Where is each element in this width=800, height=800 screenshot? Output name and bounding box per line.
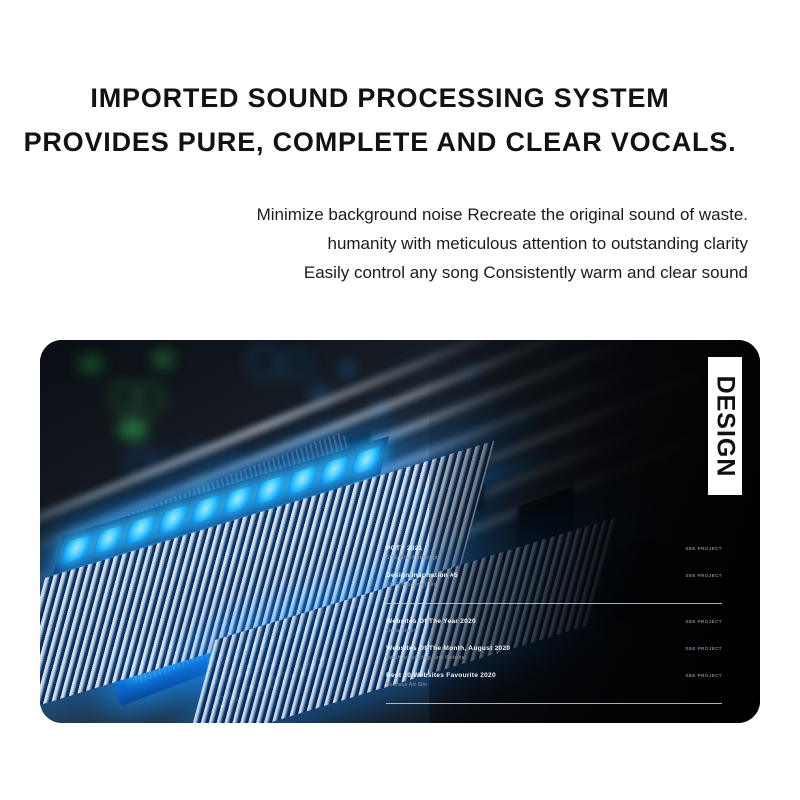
led xyxy=(190,495,221,525)
led xyxy=(93,524,124,554)
list-item[interactable]: Websites Of The Year 2020 Linea Studio S… xyxy=(386,613,746,640)
project-subtitle: VISIT Business Card xyxy=(386,581,746,589)
list-item[interactable]: Websites Of The Month, August 2020 Uarch… xyxy=(386,640,746,667)
led xyxy=(351,446,382,476)
project-subtitle: Bauhaus Art Site xyxy=(386,681,746,689)
project-award-list: POTY 2021 SITE Brand Redesign SEE PROJEC… xyxy=(386,540,746,723)
list-divider xyxy=(386,603,722,604)
led xyxy=(125,515,156,545)
project-subtitle: SITE Brand Redesign xyxy=(386,554,746,562)
led xyxy=(286,465,317,495)
led xyxy=(254,475,285,505)
subcopy-block: Minimize background noise Recreate the o… xyxy=(0,200,748,287)
page-headline: IMPORTED SOUND PROCESSING SYSTEM PROVIDE… xyxy=(0,76,760,164)
circuit-board-photo: WQ7024A ANONE-134 C 994031 CN 2107-197 D… xyxy=(40,340,760,723)
led xyxy=(157,505,188,535)
project-cta[interactable]: SEE PROJECT xyxy=(685,619,722,624)
project-cta[interactable]: SEE PROJECT xyxy=(685,646,722,651)
headline-line-2: PROVIDES PURE, COMPLETE AND CLEAR VOCALS… xyxy=(0,120,760,164)
list-divider xyxy=(386,703,722,704)
list-item[interactable]: Design Inspiration #5 VISIT Business Car… xyxy=(386,567,746,594)
list-item[interactable]: 1st Winner Portfolio Review US 2019 Desi… xyxy=(386,718,746,723)
led xyxy=(61,534,92,564)
project-cta[interactable]: SEE PROJECT xyxy=(685,546,722,551)
project-subtitle: Linea Studio xyxy=(386,627,746,635)
led xyxy=(319,455,350,485)
project-title: 1st Winner Portfolio Review US 2019 xyxy=(386,722,746,723)
list-item[interactable]: Best 20 Websites Favourite 2020 Bauhaus … xyxy=(386,667,746,694)
design-vertical-tag: DESIGN xyxy=(708,357,742,495)
design-tag-label: DESIGN xyxy=(711,375,740,477)
project-cta[interactable]: SEE PROJECT xyxy=(685,673,722,678)
subcopy-line-1: Minimize background noise Recreate the o… xyxy=(0,200,748,229)
list-item[interactable]: POTY 2021 SITE Brand Redesign SEE PROJEC… xyxy=(386,540,746,567)
project-cta[interactable]: SEE PROJECT xyxy=(685,573,722,578)
subcopy-line-2: humanity with meticulous attention to ou… xyxy=(0,229,748,258)
headline-line-1: IMPORTED SOUND PROCESSING SYSTEM xyxy=(0,76,760,120)
subcopy-line-3: Easily control any song Consistently war… xyxy=(0,258,748,287)
project-subtitle: Uarch Architecting Firm Website xyxy=(386,654,746,662)
led xyxy=(222,485,253,515)
